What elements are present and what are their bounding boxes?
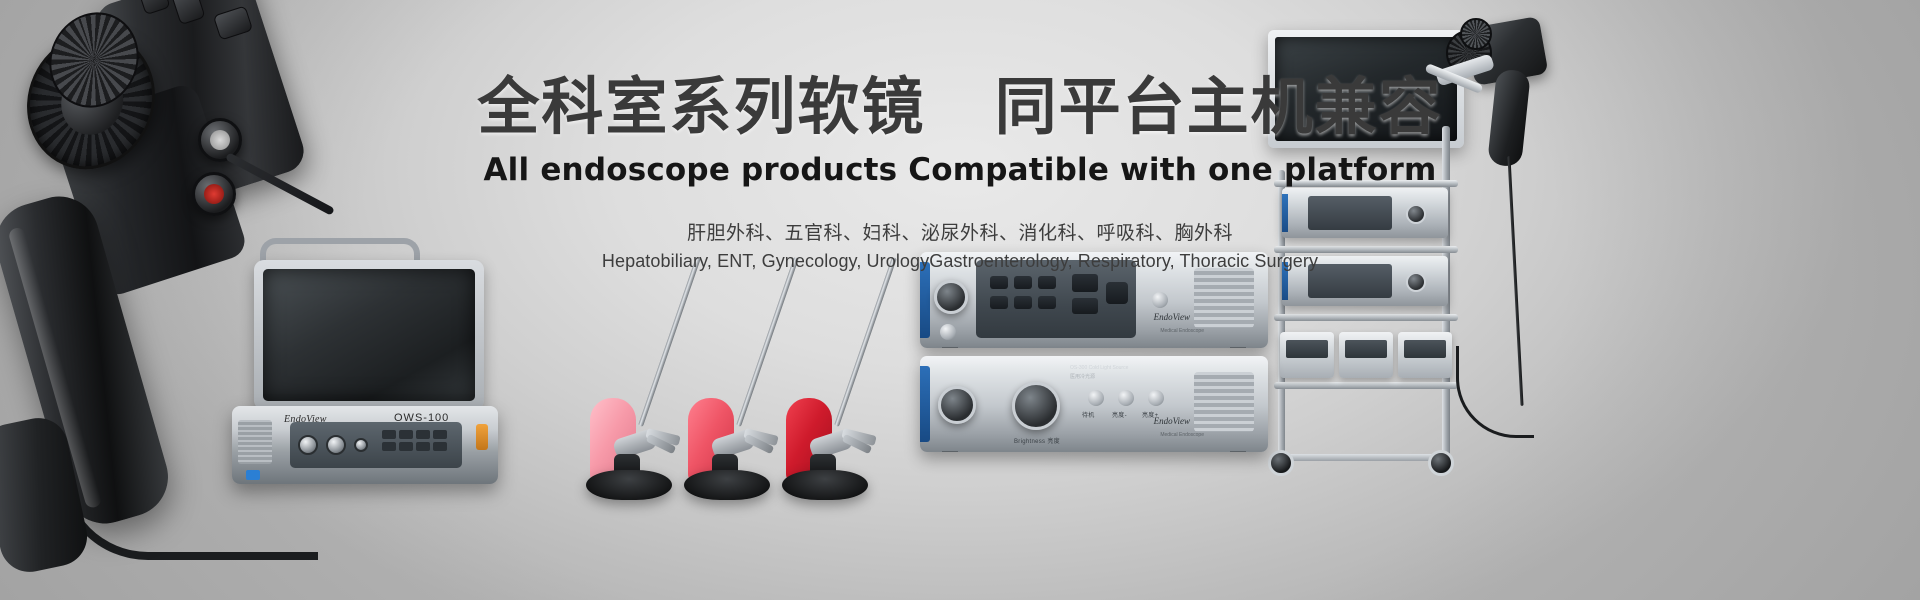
processor-key-5 xyxy=(1014,296,1032,309)
light-source-standby-button xyxy=(1088,390,1104,406)
hero-banner: 全科室系列软镜 同平台主机兼容 All endoscope products C… xyxy=(0,0,1920,600)
processor-key-7 xyxy=(1072,274,1098,292)
processor-key-3 xyxy=(1038,276,1056,289)
product-laparoscopic-instrument-red xyxy=(758,248,908,498)
processor-key-2 xyxy=(1014,276,1032,289)
light-source-button-label-2: 亮度- xyxy=(1112,410,1127,419)
cart-base-axle xyxy=(1276,454,1442,461)
console-status-indicator xyxy=(476,424,488,450)
headline-cn-part1: 全科室系列软镜 xyxy=(477,70,925,143)
light-source-brand-label: EndoView xyxy=(1154,416,1190,426)
cart-caster-wheel-left xyxy=(1268,450,1294,476)
light-source-brightness-down-button xyxy=(1118,390,1134,406)
processor-key-6 xyxy=(1038,296,1056,309)
departments-chinese: 肝胆外科、五官科、妇科、泌尿外科、消化科、呼吸科、胸外科 xyxy=(0,218,1920,245)
processor-key-8 xyxy=(1072,298,1098,314)
light-source-top-label-cn: 医用冷光源 xyxy=(1070,373,1095,380)
processor-key-1 xyxy=(990,276,1008,289)
cart-accessory-2 xyxy=(1339,332,1393,378)
processor-brand-label: EndoView xyxy=(1154,312,1190,322)
light-source-foot-right xyxy=(1230,451,1246,452)
processor-foot-right xyxy=(1230,347,1246,348)
instrument-shaft xyxy=(834,257,897,427)
light-source-side-strip xyxy=(920,366,930,442)
cart-device-knob xyxy=(1406,272,1426,292)
headline-cn-part2: 同平台主机兼容 xyxy=(995,70,1443,143)
processor-key-4 xyxy=(990,296,1008,309)
light-source-dial-label: Brightness 亮度 xyxy=(1014,436,1060,445)
processor-power-button xyxy=(940,324,956,340)
processor-usb-port xyxy=(1106,282,1128,304)
light-source-foot-left xyxy=(942,451,958,452)
instrument-stand-base xyxy=(782,470,868,500)
light-source-port-connector xyxy=(938,386,976,424)
processor-vent-grille xyxy=(1194,268,1254,328)
light-source-brightness-up-button xyxy=(1148,390,1164,406)
product-stacked-processor-and-light-source: OVE-4204 Image Processor 高清电子内窥镜图像处理器 En… xyxy=(920,252,1268,462)
light-source-sub-label: Medical Endoscope xyxy=(1160,432,1204,438)
processor-foot-left xyxy=(942,347,958,348)
cart-accessory-tray xyxy=(1280,322,1452,378)
console-model-label: OWS-100 xyxy=(394,412,449,424)
processor-side-strip xyxy=(920,262,930,338)
product-cold-light-source-unit: OS-300 Cold Light Source 医用冷光源 Brightnes… xyxy=(920,356,1268,452)
light-source-button-label-1: 待机 xyxy=(1082,410,1095,419)
arm-scope-cord-curve xyxy=(1456,346,1534,438)
processor-main-dial xyxy=(934,280,968,314)
page-title: 全科室系列软镜 同平台主机兼容 xyxy=(0,56,1920,146)
banner-text-block: 全科室系列软镜 同平台主机兼容 All endoscope products C… xyxy=(0,0,1920,272)
light-source-brightness-dial xyxy=(1012,382,1060,430)
processor-sub-label: Medical Endoscope xyxy=(1160,328,1204,334)
light-source-vent-grille xyxy=(1194,372,1254,432)
processor-aux-button xyxy=(1152,292,1168,308)
light-source-top-label-en: OS-300 Cold Light Source xyxy=(1070,365,1128,371)
departments-english: Hepatobiliary, ENT, Gynecology, UrologyG… xyxy=(0,251,1920,272)
subtitle-english: All endoscope products Compatible with o… xyxy=(0,152,1920,188)
cart-accessory-1 xyxy=(1280,332,1334,378)
